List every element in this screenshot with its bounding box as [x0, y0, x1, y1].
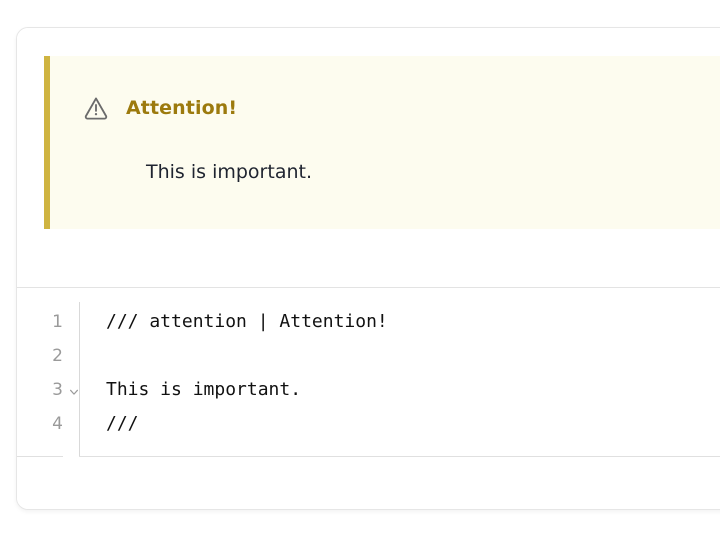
admonition-header: Attention! [83, 95, 237, 121]
code-scroll-area[interactable]: 1 /// attention | Attention! 2 3 This is… [17, 288, 720, 456]
line-number: 1 [41, 310, 63, 334]
admonition-title: Attention! [126, 99, 237, 118]
admonition-body-text: This is important. [146, 160, 312, 185]
documentation-preview-card: Attention! This is important. 1 /// atte… [16, 27, 720, 510]
rendered-preview-pane: Attention! This is important. [17, 28, 720, 287]
code-line[interactable]: 4 /// [17, 412, 720, 446]
line-content[interactable]: This is important. [106, 378, 301, 402]
line-number: 3 [41, 378, 63, 402]
line-content[interactable]: /// attention | Attention! [106, 310, 388, 334]
code-line[interactable]: 2 [17, 344, 720, 378]
admonition-attention: Attention! This is important. [44, 56, 720, 229]
code-line[interactable]: 1 /// attention | Attention! [17, 310, 720, 344]
card-footer [17, 457, 720, 510]
code-line[interactable]: 3 This is important. [17, 378, 720, 412]
source-code-pane[interactable]: 1 /// attention | Attention! 2 3 This is… [17, 288, 720, 456]
line-content[interactable]: /// [106, 412, 139, 436]
line-number: 4 [41, 412, 63, 436]
warning-triangle-icon [83, 95, 109, 121]
chevron-down-icon[interactable] [68, 386, 80, 398]
line-number: 2 [41, 344, 63, 368]
